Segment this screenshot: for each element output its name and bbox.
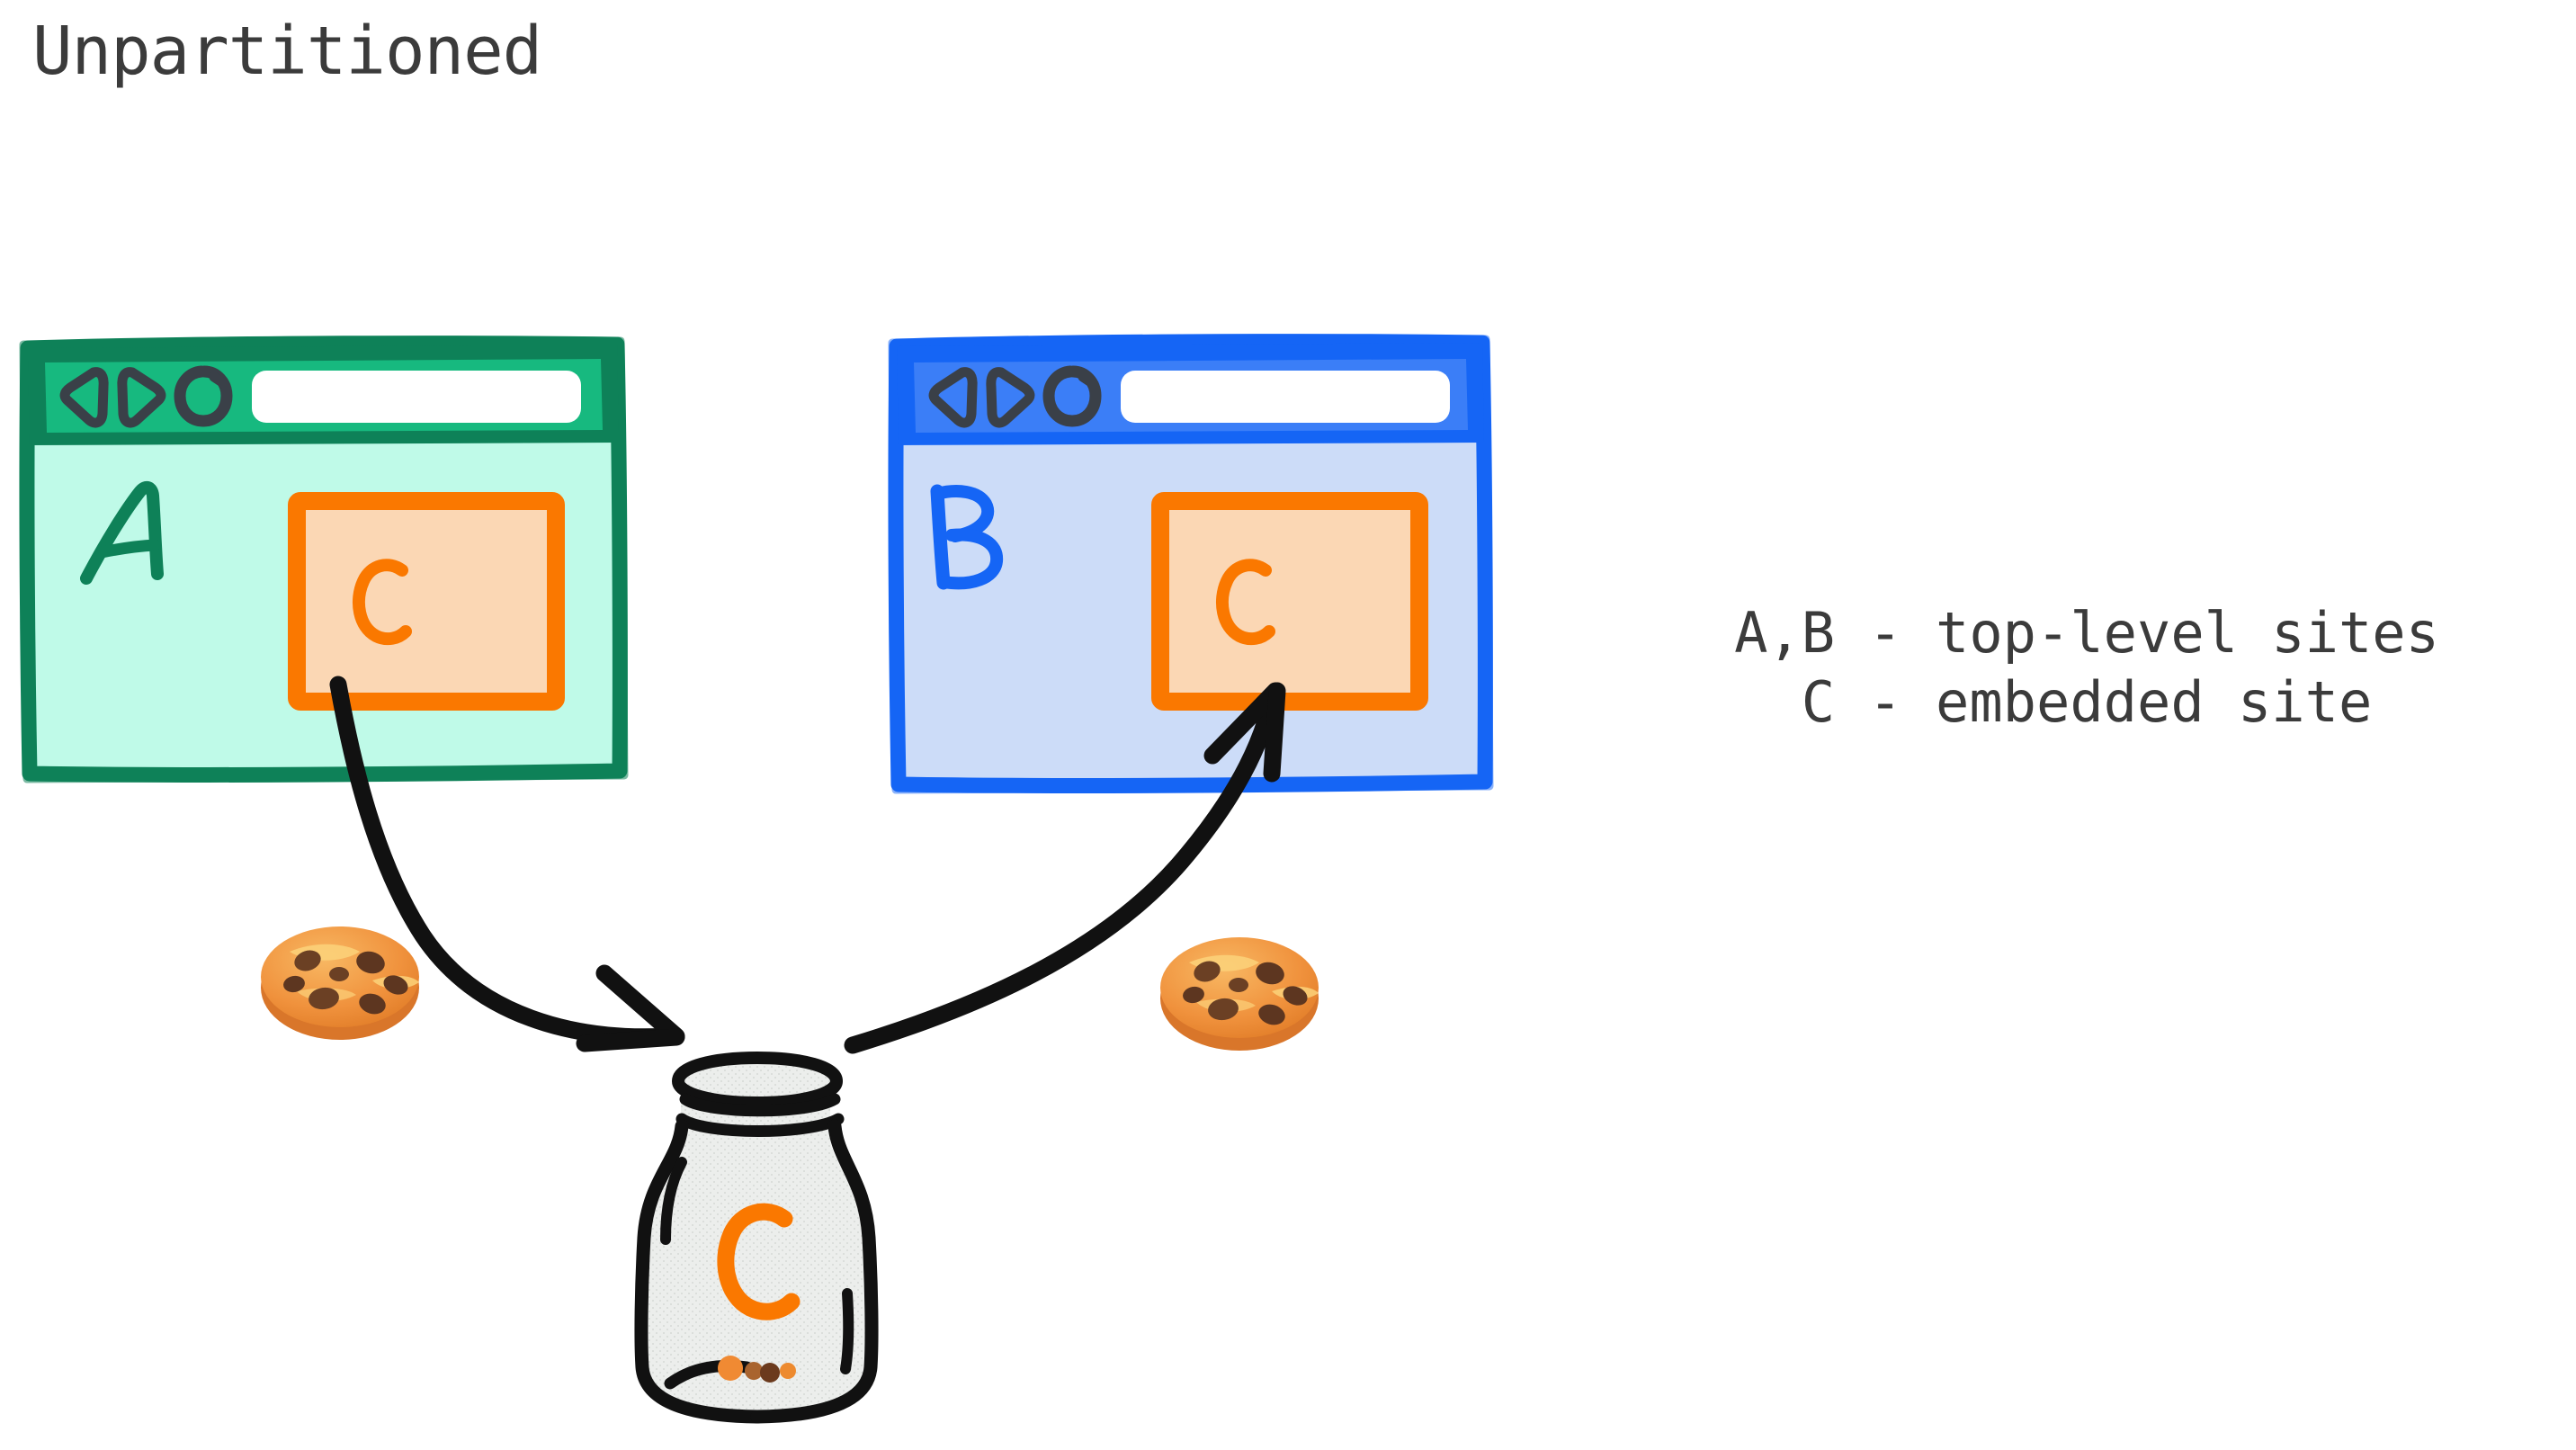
window-b-url-input[interactable] bbox=[1121, 371, 1450, 423]
cookie-left bbox=[261, 926, 419, 1040]
cookie-right bbox=[1160, 937, 1319, 1051]
window-b-embed-c[interactable] bbox=[1160, 501, 1419, 702]
window-b[interactable] bbox=[892, 339, 1489, 790]
cookie-jar bbox=[641, 1058, 872, 1417]
window-a-embed-c[interactable] bbox=[297, 501, 556, 702]
window-a-url-input[interactable] bbox=[252, 371, 581, 423]
diagram-canvas bbox=[0, 0, 2576, 1450]
reload-icon-notch bbox=[1083, 377, 1094, 384]
jar-highlight-right bbox=[845, 1293, 848, 1369]
reload-icon-notch bbox=[214, 377, 225, 384]
window-a[interactable] bbox=[23, 341, 624, 779]
